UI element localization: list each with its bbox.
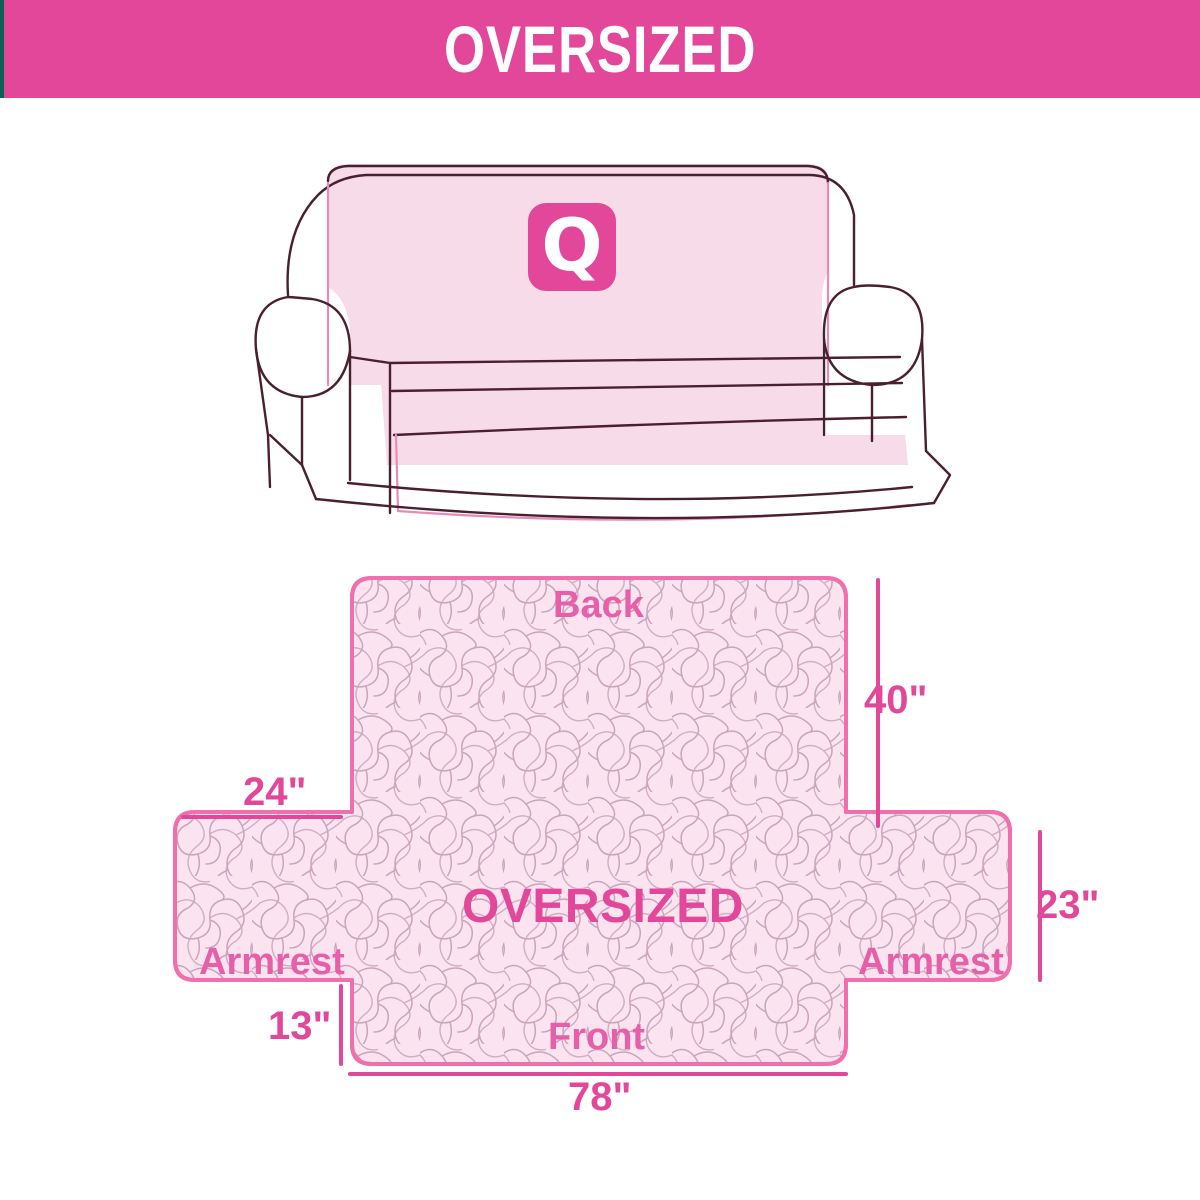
- sofa-illustration: .ln { fill:none; stroke:#4a2030; stroke-…: [250, 135, 980, 530]
- diagram-center-label: OVERSIZED: [462, 883, 744, 931]
- brand-logo-badge: Q: [528, 203, 616, 291]
- brand-logo-letter: Q: [541, 209, 602, 281]
- dimension-armrest-width: 24": [243, 772, 306, 812]
- dimension-armrest-height: 23": [1036, 885, 1099, 925]
- cover-shape: [170, 574, 1016, 1070]
- dimension-front-height: 13": [268, 1006, 331, 1046]
- header-accent-strip: [0, 0, 4, 98]
- dimension-back-height: 40": [864, 680, 927, 720]
- panel-label-front: Front: [548, 1018, 645, 1056]
- panel-label-back: Back: [553, 586, 644, 624]
- header-banner: OVERSIZED: [0, 0, 1200, 98]
- dimension-total-width: 78": [568, 1077, 631, 1117]
- panel-label-armrest-right: Armrest: [858, 943, 1004, 981]
- panel-label-armrest-left: Armrest: [199, 943, 345, 981]
- page-title: OVERSIZED: [444, 16, 756, 82]
